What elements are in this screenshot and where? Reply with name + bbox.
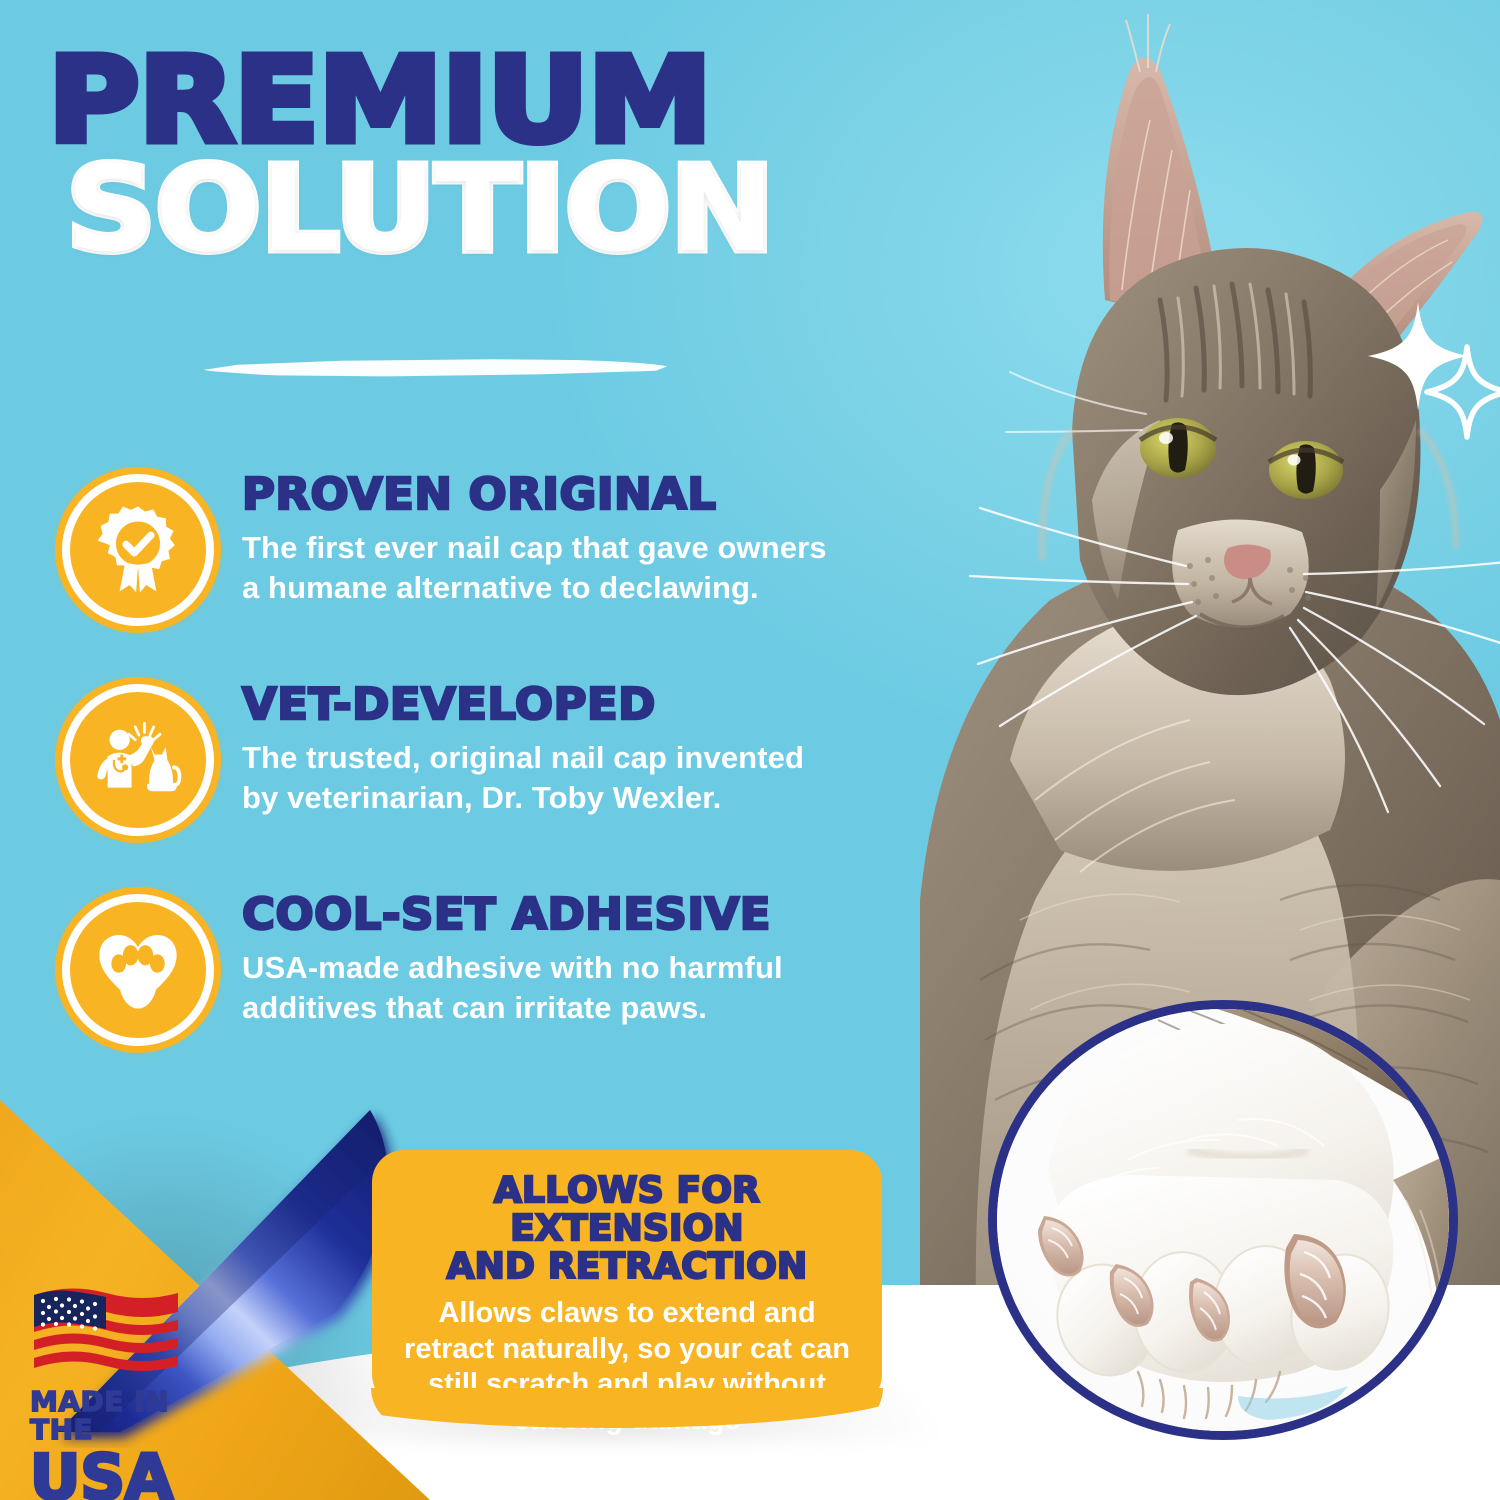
made-in-usa-line-1: MADE IN THE — [30, 1388, 240, 1444]
promo-image-canvas: PREMIUM SOLUTION PROVEN ORIGINAL The fir… — [0, 0, 1500, 1500]
feature-title: COOL-SET ADHESIVE — [242, 892, 874, 938]
paw-inset-graphic — [988, 1000, 1458, 1440]
feature-title: PROVEN ORIGINAL — [242, 472, 874, 518]
made-in-usa-line-2: USA — [30, 1446, 240, 1500]
usa-flag-icon — [30, 1282, 182, 1374]
callout-title-line-1: ALLOWS FOR EXTENSION — [494, 1170, 760, 1249]
feature-text: The first ever nail cap that gave owners… — [242, 528, 842, 609]
award-ribbon-icon — [62, 474, 214, 626]
callout-text: Allows claws to extend and retract natur… — [372, 1286, 882, 1438]
headline-line-2: SOLUTION — [66, 150, 916, 268]
sparkle-outline-icon — [1424, 344, 1500, 440]
feature-title: VET-DEVELOPED — [242, 682, 874, 728]
made-in-usa-badge: MADE IN THE USA — [30, 1282, 240, 1500]
callout-title-line-2: AND RETRACTION — [447, 1246, 808, 1287]
feature-body: COOL-SET ADHESIVE USA-made adhesive with… — [214, 882, 862, 1029]
feature-text: The trusted, original nail cap invented … — [242, 738, 842, 819]
feature-list: PROVEN ORIGINAL The first ever nail cap … — [62, 462, 862, 1080]
feature-text: USA-made adhesive with no harmful additi… — [242, 948, 842, 1029]
feature-body: VET-DEVELOPED The trusted, original nail… — [214, 672, 862, 819]
feature-body: PROVEN ORIGINAL The first ever nail cap … — [214, 462, 862, 609]
headline-block: PREMIUM SOLUTION — [48, 44, 868, 268]
feature-item: PROVEN ORIGINAL The first ever nail cap … — [62, 462, 862, 626]
feature-item: COOL-SET ADHESIVE USA-made adhesive with… — [62, 882, 862, 1046]
vet-with-cat-icon — [62, 684, 214, 836]
cat-paw-with-nail-caps-photo — [988, 1000, 1458, 1440]
feature-item: VET-DEVELOPED The trusted, original nail… — [62, 672, 862, 836]
callout-title: ALLOWS FOR EXTENSION AND RETRACTION — [372, 1150, 882, 1286]
extension-retraction-callout: ALLOWS FOR EXTENSION AND RETRACTION Allo… — [372, 1150, 882, 1410]
heart-paw-icon — [62, 894, 214, 1046]
